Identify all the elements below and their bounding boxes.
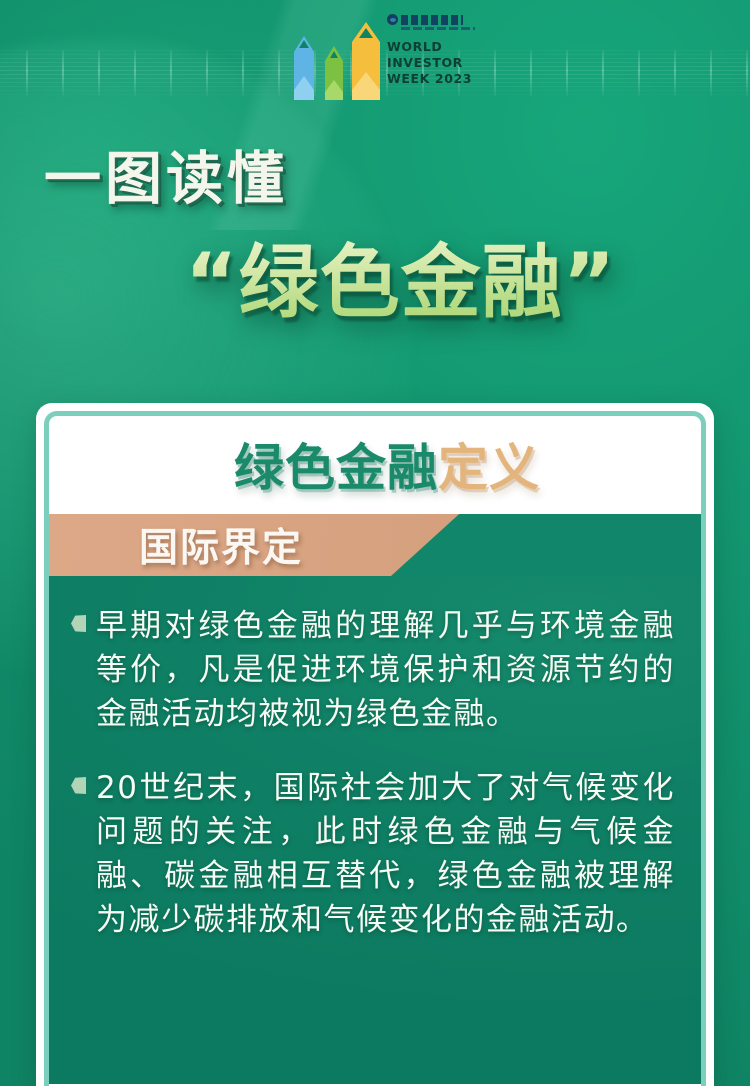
- event-title: WORLD INVESTOR WEEK 2023: [387, 39, 483, 87]
- paragraph-text: 早期对绿色金融的理解几乎与环境金融等价，凡是促进环境保护和资源节约的金融活动均被…: [96, 604, 675, 736]
- section-title-green-part: 绿色金融: [234, 428, 438, 500]
- content-card: 绿色金融定义 国际界定 早期对绿色金融的理解几乎与环境金融等价，凡是促进环境保护…: [36, 403, 714, 1086]
- org-subtitle-line: [401, 27, 475, 30]
- paragraph-item: 早期对绿色金融的理解几乎与环境金融等价，凡是促进环境保护和资源节约的金融活动均被…: [71, 604, 675, 736]
- event-title-line-3: WEEK 2023: [387, 71, 483, 87]
- section-title: 绿色金融定义: [49, 416, 701, 512]
- paragraph-item: 20世纪末，国际社会加大了对气候变化问题的关注，此时绿色金融与气候金融、碳金融相…: [71, 766, 675, 942]
- world-investor-week-logo: WORLD INVESTOR WEEK 2023: [275, 4, 475, 112]
- three-pencils-icon: [280, 18, 390, 108]
- card-body: 早期对绿色金融的理解几乎与环境金融等价，凡是促进环境保护和资源节约的金融活动均被…: [49, 576, 701, 1084]
- bullet-marker-icon: [71, 615, 86, 632]
- event-title-line-1: WORLD: [387, 39, 483, 55]
- hero-headline-primary: 一图读懂: [44, 133, 288, 215]
- paragraph-text: 20世纪末，国际社会加大了对气候变化问题的关注，此时绿色金融与气候金融、碳金融相…: [96, 766, 675, 942]
- masthead: WORLD INVESTOR WEEK 2023: [0, 4, 750, 116]
- org-emblem-icon: [387, 14, 398, 25]
- subsection-banner: 国际界定: [49, 514, 701, 576]
- event-title-line-2: INVESTOR: [387, 55, 483, 71]
- section-title-tan-part: 定义: [438, 428, 540, 500]
- content-card-inner: 绿色金融定义 国际界定 早期对绿色金融的理解几乎与环境金融等价，凡是促进环境保护…: [44, 411, 706, 1086]
- org-wordmark: [401, 15, 463, 25]
- organization-brand: WORLD INVESTOR WEEK 2023: [387, 14, 483, 87]
- bullet-marker-icon: [71, 777, 86, 794]
- org-logo-row: [387, 14, 483, 25]
- hero-headline-secondary: “绿色金融”: [185, 218, 616, 334]
- banner-label: 国际界定: [139, 517, 303, 573]
